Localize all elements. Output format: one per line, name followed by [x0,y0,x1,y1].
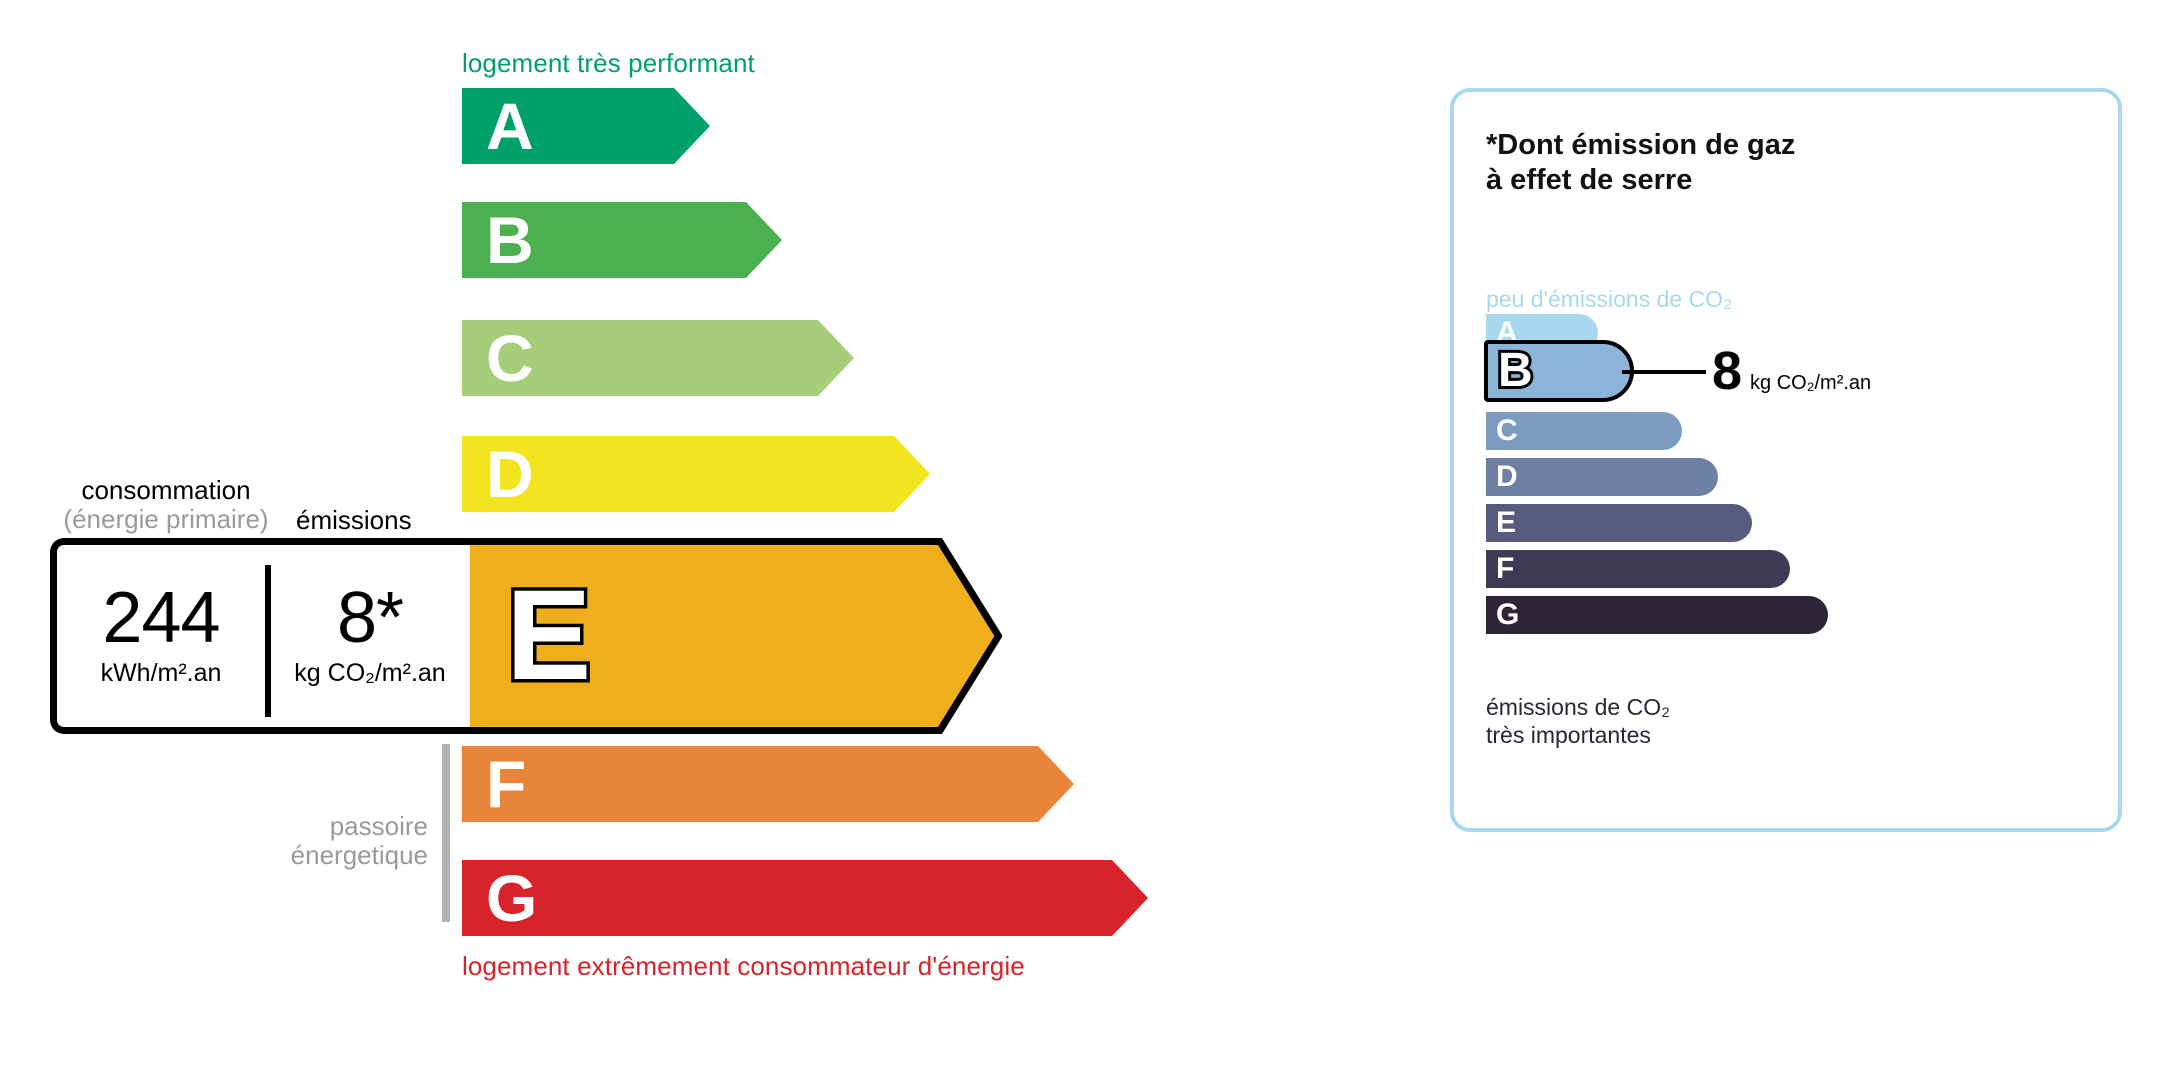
energy-arrow-shape [462,860,1148,936]
ghg-class-letter-e: E [1496,508,1516,538]
consumption-label-group: consommation (énergie primaire) [62,476,270,534]
ghg-leader-line [1622,370,1706,374]
passoire-label-line1: passoire [330,811,428,841]
ghg-class-b-letter: B [1498,347,1533,395]
ghg-class-row-d: D [1486,458,1718,496]
energy-class-letter-c: C [486,325,534,391]
ghg-class-row-g: G [1486,596,1828,634]
ghg-top-caption: peu d'émissions de CO₂ [1486,286,1732,313]
value-readout-box: 244 kWh/m².an 8* kg CO₂/m².an [50,538,470,734]
ghg-class-letter-g: G [1496,600,1519,630]
passoire-label-line2: énergetique [291,840,428,870]
energy-top-caption: logement très performant [462,48,755,79]
energy-arrow-shape [462,746,1074,822]
energy-class-letter-a: A [486,93,534,159]
ghg-bar-d [1486,458,1718,496]
energy-class-letter-b: B [486,207,534,273]
energy-class-row-a: A [462,88,710,164]
ghg-bar-f [1486,550,1790,588]
ghg-class-row-f: F [1486,550,1790,588]
consumption-value: 244 [102,584,219,652]
energy-label-panel: logement très performant A B C D E F G c… [0,0,1330,1079]
energy-class-row-f: F [462,746,1074,822]
energy-class-letter-d: D [486,441,534,507]
ghg-class-row-b-current: B [1484,340,1634,402]
ghg-class-letter-f: F [1496,554,1514,584]
ghg-value-group: 8 kg CO₂/m².an [1712,344,1871,398]
emissions-label: émissions [296,505,412,536]
consumption-value-cell: 244 kWh/m².an [57,545,265,727]
ghg-value: 8 [1712,344,1742,398]
energy-class-row-e-current: E [462,538,1002,734]
emissions-value-cell: 8* kg CO₂/m².an [270,545,470,727]
energy-class-row-g: G [462,860,1148,936]
ghg-class-letter-d: D [1496,462,1518,492]
ghg-bar-g [1486,596,1828,634]
ghg-bottom-caption: émissions de CO₂ très importantes [1486,694,1670,749]
energy-class-row-d: D [462,436,930,512]
energy-class-row-c: C [462,320,854,396]
energy-class-e-letter: E [506,572,591,700]
consumption-unit: kWh/m².an [101,659,222,688]
ghg-bar-e [1486,504,1752,542]
emissions-unit: kg CO₂/m².an [294,659,445,688]
ghg-class-letter-c: C [1496,416,1518,446]
ghg-panel-title: *Dont émission de gaz à effet de serre [1486,128,1795,198]
energy-bottom-caption: logement extrêmement consommateur d'éner… [462,951,1025,982]
ghg-emissions-panel: *Dont émission de gaz à effet de serre p… [1450,88,2122,832]
ghg-class-row-c: C [1486,412,1682,450]
ghg-class-row-e: E [1486,504,1752,542]
consumption-sublabel: (énergie primaire) [62,505,270,534]
ghg-unit: kg CO₂/m².an [1750,372,1871,395]
consumption-label: consommation [81,475,250,505]
energy-class-letter-g: G [486,865,537,931]
passoire-label: passoire énergetique [210,812,428,870]
dpe-diagram: logement très performant A B C D E F G c… [0,0,2170,1079]
emissions-value: 8* [337,584,403,652]
energy-class-row-b: B [462,202,782,278]
passoire-indicator-bar [442,744,450,922]
energy-class-letter-f: F [486,751,526,817]
